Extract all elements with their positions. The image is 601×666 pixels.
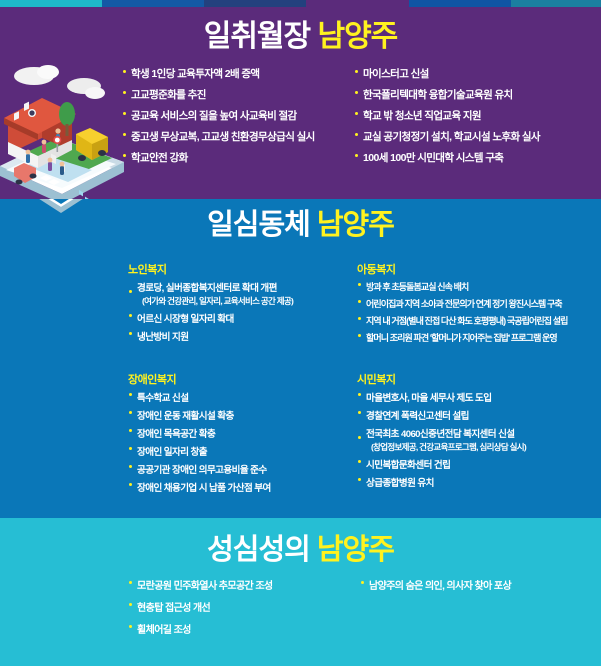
- group-disabled-welfare: 장애인복지 특수학교 신설 장애인 운동 재활시설 확충 장애인 목욕공간 확충…: [128, 371, 343, 498]
- strip-blue2: [409, 0, 511, 7]
- strip-navy: [204, 0, 306, 7]
- group-heading: 장애인복지: [128, 371, 343, 387]
- list-item-text: 전국최초 4060신중년전담 복지센터 신설: [366, 429, 515, 440]
- infographic-page: 일취월장 남양주: [0, 0, 601, 666]
- section-1-column-left: 학생 1인당 교육투자액 2배 증액 고교평준화를 추진 공교육 서비스의 질을…: [122, 66, 354, 171]
- section-3-title-accent: 남양주: [317, 534, 394, 566]
- section-2-title-accent: 남양주: [317, 209, 394, 241]
- citizen-welfare-list: 마을변호사, 마을 세무사 제도 도입 경찰연계 폭력신고센터 설립 전국최초 …: [357, 390, 599, 489]
- section-ilsimdongche: 일심동체 남양주: [0, 199, 601, 518]
- section-3-column-right: 남양주의 숨은 의인, 의사자 찾아 포상: [360, 577, 511, 643]
- list-item: 학교안전 강화: [122, 150, 354, 165]
- list-item-note: (여가와 건강관리, 일자리, 교육서비스 공간 제공): [137, 295, 343, 307]
- section-1-columns: 학생 1인당 교육투자액 2배 증액 고교평준화를 추진 공교육 서비스의 질을…: [0, 66, 601, 171]
- list-item: 공교육 서비스의 질을 높여 사교육비 절감: [122, 108, 354, 123]
- group-heading: 노인복지: [128, 261, 343, 277]
- strip-blue: [102, 0, 204, 7]
- list-item: 마이스터고 신설: [354, 66, 540, 81]
- section-3-right-list: 남양주의 숨은 의인, 의사자 찾아 포상: [360, 577, 511, 592]
- list-item: 특수학교 신설: [128, 390, 343, 404]
- list-item: 현충탑 접근성 개선: [128, 599, 360, 614]
- section-1-title: 일취월장 남양주: [0, 0, 601, 52]
- group-citizen-welfare: 시민복지 마을변호사, 마을 세무사 제도 도입 경찰연계 폭력신고센터 설립 …: [357, 371, 599, 493]
- list-item: 모란공원 민주화열사 추모공간 조성: [128, 577, 360, 592]
- list-item: 장애인 운동 재활시설 확충: [128, 408, 343, 422]
- list-item: 상급종합병원 유치: [357, 475, 599, 489]
- section-3-title-main: 성심성의: [207, 534, 310, 566]
- group-heading: 아동복지: [357, 261, 599, 277]
- senior-welfare-list: 경로당, 실버종합복지센터로 확대 개편 (여가와 건강관리, 일자리, 교육서…: [128, 280, 343, 343]
- top-color-strip: [0, 0, 601, 7]
- list-item: 교실 공기청정기 설치, 학교시설 노후화 실사: [354, 129, 540, 144]
- list-item: 100세 100만 시민대학 시스템 구축: [354, 150, 540, 165]
- list-item: 할머니 조리원 파견 '할머니가 지어주는 집밥' 프로그램 운영: [357, 331, 599, 344]
- child-welfare-list: 방과 후 초등돌봄교실 신속 배치 어린이집과 지역 소아과 전문의가 연계 정…: [357, 280, 599, 344]
- list-item: 남양주의 숨은 의인, 의사자 찾아 포상: [360, 577, 511, 592]
- group-senior-welfare: 노인복지 경로당, 실버종합복지센터로 확대 개편 (여가와 건강관리, 일자리…: [128, 261, 343, 347]
- section-1-left-list: 학생 1인당 교육투자액 2배 증액 고교평준화를 추진 공교육 서비스의 질을…: [122, 66, 354, 165]
- strip-purple: [306, 0, 408, 7]
- list-item: 장애인 일자리 창출: [128, 444, 343, 458]
- list-item: 학생 1인당 교육투자액 2배 증액: [122, 66, 354, 81]
- list-item: 전국최초 4060신중년전담 복지센터 신설 (창업정보제공, 건강교육프로그램…: [357, 426, 599, 453]
- list-item: 학교 밖 청소년 직업교육 지원: [354, 108, 540, 123]
- section-3-columns: 모란공원 민주화열사 추모공간 조성 현충탑 접근성 개선 휠체어길 조성 남양…: [0, 577, 601, 643]
- list-item: 어르신 시장형 일자리 확대: [128, 311, 343, 325]
- list-item: 중고생 무상교복, 고교생 친환경무상급식 실시: [122, 129, 354, 144]
- section-1-right-list: 마이스터고 신설 한국폴리텍대학 융합기술교육원 유치 학교 밖 청소년 직업교…: [354, 66, 540, 165]
- book-chevron-icon: [30, 199, 92, 213]
- section-1-title-accent: 남양주: [317, 20, 397, 53]
- list-item: 경찰연계 폭력신고센터 설립: [357, 408, 599, 422]
- list-item: 한국폴리텍대학 융합기술교육원 유치: [354, 87, 540, 102]
- strip-teal: [0, 0, 102, 7]
- list-item: 장애인 채용기업 시 납품 가산점 부여: [128, 480, 343, 494]
- section-3-left-list: 모란공원 민주화열사 추모공간 조성 현충탑 접근성 개선 휠체어길 조성: [128, 577, 360, 636]
- list-item: 공공기관 장애인 의무고용비율 준수: [128, 462, 343, 476]
- list-item: 어린이집과 지역 소아과 전문의가 연계 정기 왕진시스템 구축: [357, 297, 599, 310]
- group-child-welfare: 아동복지 방과 후 초등돌봄교실 신속 배치 어린이집과 지역 소아과 전문의가…: [357, 261, 599, 348]
- section-ilchwiwoljang: 일취월장 남양주: [0, 0, 601, 199]
- list-item-note: (창업정보제공, 건강교육프로그램, 심리상담 실시): [366, 441, 599, 453]
- section-1-title-main: 일취월장: [204, 20, 310, 53]
- list-item: 휠체어길 조성: [128, 621, 360, 636]
- list-item: 마을변호사, 마을 세무사 제도 도입: [357, 390, 599, 404]
- disabled-welfare-list: 특수학교 신설 장애인 운동 재활시설 확충 장애인 목욕공간 확충 장애인 일…: [128, 390, 343, 494]
- list-item: 지역 내 거점(별내 진접 다산 화도 호평평내) 국공립어린집 설립: [357, 314, 599, 327]
- list-item: 경로당, 실버종합복지센터로 확대 개편 (여가와 건강관리, 일자리, 교육서…: [128, 280, 343, 307]
- strip-teal2: [511, 0, 601, 7]
- group-heading: 시민복지: [357, 371, 599, 387]
- list-item: 방과 후 초등돌봄교실 신속 배치: [357, 280, 599, 293]
- list-item: 고교평준화를 추진: [122, 87, 354, 102]
- list-item: 시민복합문화센터 건립: [357, 457, 599, 471]
- list-item: 장애인 목욕공간 확충: [128, 426, 343, 440]
- section-1-column-right: 마이스터고 신설 한국폴리텍대학 융합기술교육원 유치 학교 밖 청소년 직업교…: [354, 66, 540, 171]
- section-seongsimseongui: 성심성의 남양주: [0, 518, 601, 666]
- section-3-title: 성심성의 남양주: [0, 518, 601, 565]
- list-item-text: 경로당, 실버종합복지센터로 확대 개편: [137, 283, 277, 294]
- section-3-column-left: 모란공원 민주화열사 추모공간 조성 현충탑 접근성 개선 휠체어길 조성: [128, 577, 360, 643]
- list-item: 냉난방비 지원: [128, 329, 343, 343]
- section-2-title-main: 일심동체: [207, 209, 310, 241]
